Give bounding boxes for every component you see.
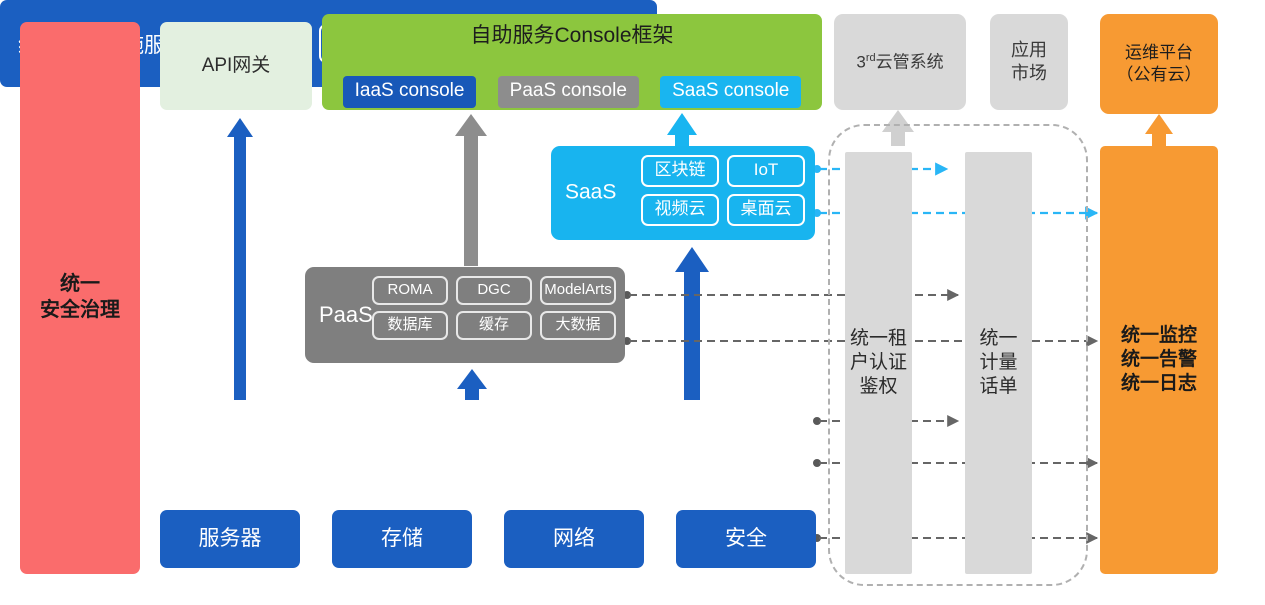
paas-item-roma[interactable]: ROMA [372, 276, 448, 305]
box-third-party-cloud-management-label: 3rd云管系统 [856, 51, 943, 73]
box-resource-storage-label: 存储 [381, 526, 423, 553]
box-resource-network[interactable]: 网络 [504, 510, 644, 568]
saas-item-blockchain[interactable]: 区块链 [641, 155, 719, 187]
box-api-gateway[interactable]: API网关 [160, 22, 312, 110]
flow-arrow-to-ops-top [1145, 114, 1173, 148]
flow-arrow-api-gateway [227, 118, 253, 400]
panel-paas-label: PaaS [319, 301, 373, 329]
panel-unified-monitoring-alarm-log-label: 统一监控 统一告警 统一日志 [1121, 324, 1197, 397]
paas-item-modelarts[interactable]: ModelArts [540, 276, 616, 305]
saas-service-grid: 区块链 IoT 视频云 桌面云 [641, 155, 805, 226]
box-application-market[interactable]: 应用 市场 [990, 14, 1068, 110]
box-resource-network-label: 网络 [553, 526, 595, 553]
box-resource-security[interactable]: 安全 [676, 510, 816, 568]
column-unified-tenant-auth-label: 统一租 户认证 鉴权 [850, 327, 907, 400]
third-party-superscript: rd [866, 52, 876, 64]
box-resource-server[interactable]: 服务器 [160, 510, 300, 568]
panel-unified-security-governance[interactable]: 统一 安全治理 [20, 22, 140, 574]
chip-paas-console[interactable]: PaaS console [498, 76, 639, 108]
paas-item-cache[interactable]: 缓存 [456, 311, 532, 340]
panel-unified-security-governance-label: 统一 安全治理 [40, 272, 120, 323]
panel-saas[interactable]: SaaS 区块链 IoT 视频云 桌面云 [551, 146, 815, 240]
box-application-market-label: 应用 市场 [1011, 39, 1047, 85]
chip-iaas-console[interactable]: IaaS console [343, 76, 477, 108]
column-unified-metering-label: 统一 计量 话单 [979, 327, 1017, 400]
box-ops-platform-public-cloud[interactable]: 运维平台 （公有云） [1100, 14, 1218, 114]
panel-unified-monitoring-alarm-log[interactable]: 统一监控 统一告警 统一日志 [1100, 146, 1218, 574]
box-resource-server-label: 服务器 [199, 526, 262, 553]
flow-arrow-paas-to-console [455, 114, 487, 266]
box-resource-storage[interactable]: 存储 [332, 510, 472, 568]
third-party-prefix: 3 [856, 52, 865, 71]
panel-paas[interactable]: PaaS ROMA DGC ModelArts 数据库 缓存 大数据 [305, 267, 625, 363]
paas-item-dgc[interactable]: DGC [456, 276, 532, 305]
panel-self-service-console-framework[interactable]: 自助服务Console框架 IaaS console PaaS console … [322, 14, 822, 110]
saas-item-desktop-cloud[interactable]: 桌面云 [727, 194, 805, 226]
box-ops-platform-public-cloud-label: 运维平台 （公有云） [1117, 42, 1202, 86]
flow-arrow-infra-to-paas [457, 369, 487, 400]
console-framework-title: 自助服务Console框架 [322, 23, 822, 50]
architecture-diagram: 统一租 户认证 鉴权 统一 计量 话单 统一 安全治理 API网关 自助服务Co… [0, 0, 1265, 605]
paas-item-big-data[interactable]: 大数据 [540, 311, 616, 340]
saas-item-iot[interactable]: IoT [727, 155, 805, 187]
box-resource-security-label: 安全 [725, 526, 767, 553]
paas-service-grid: ROMA DGC ModelArts 数据库 缓存 大数据 [372, 276, 616, 340]
panel-saas-label: SaaS [565, 180, 616, 207]
saas-item-video-cloud[interactable]: 视频云 [641, 194, 719, 226]
column-unified-tenant-auth[interactable]: 统一租 户认证 鉴权 [845, 152, 912, 574]
console-chip-row: IaaS console PaaS console SaaS console [322, 76, 822, 108]
flow-arrow-saas-to-console [667, 113, 697, 146]
paas-item-database[interactable]: 数据库 [372, 311, 448, 340]
flow-arrow-infra-to-saas [675, 247, 709, 400]
column-unified-metering[interactable]: 统一 计量 话单 [965, 152, 1032, 574]
box-third-party-cloud-management[interactable]: 3rd云管系统 [834, 14, 966, 110]
chip-saas-console[interactable]: SaaS console [660, 76, 801, 108]
third-party-suffix: 云管系统 [876, 52, 944, 71]
box-api-gateway-label: API网关 [202, 54, 271, 78]
